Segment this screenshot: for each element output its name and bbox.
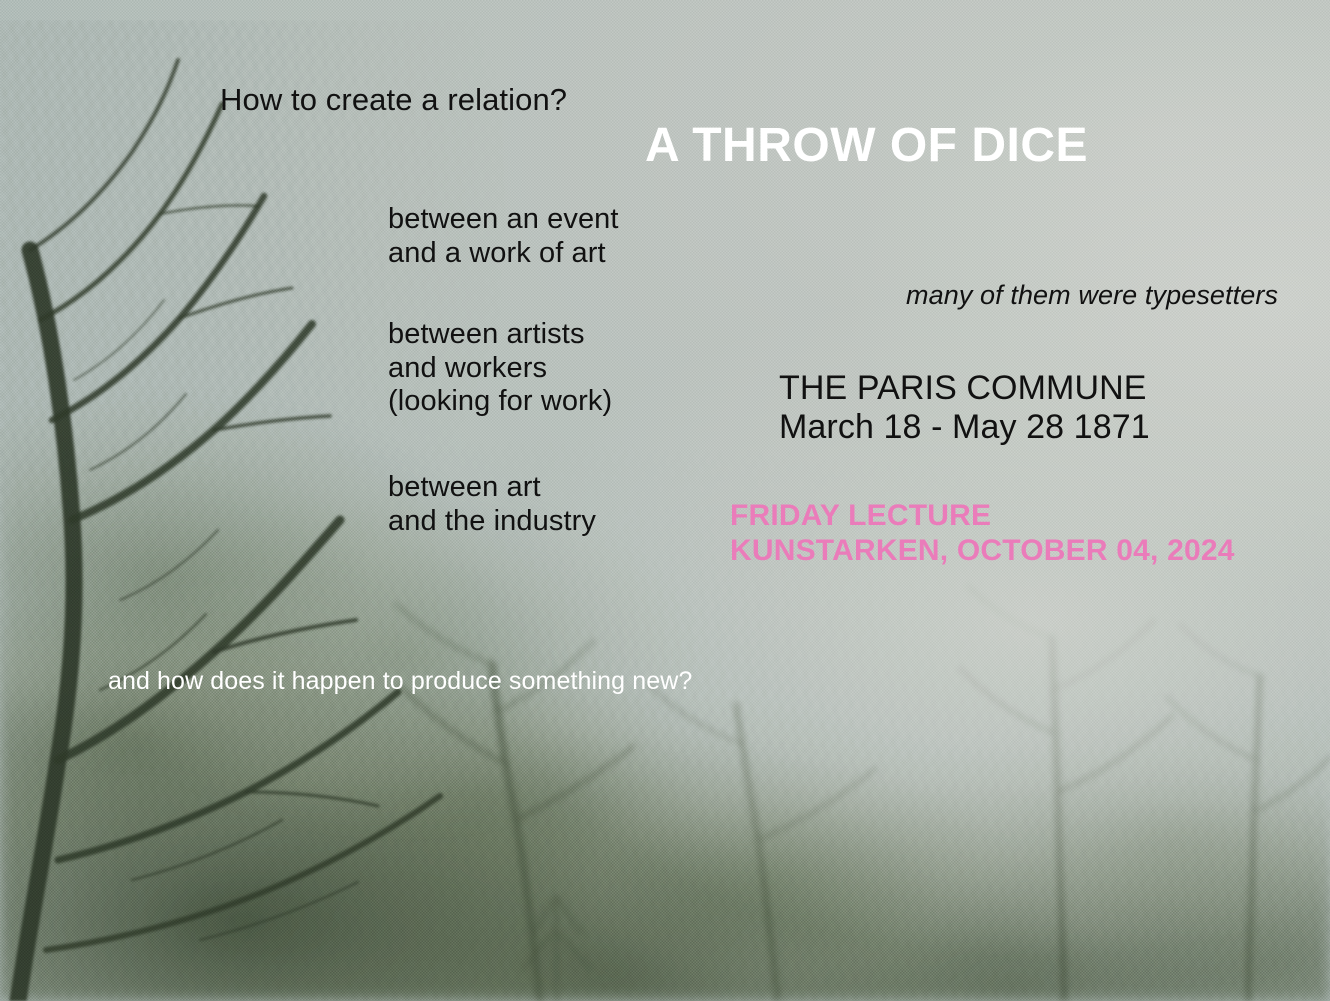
relation-item-artists: between artists and workers (looking for…	[388, 318, 612, 419]
closing-question: and how does it happen to produce someth…	[108, 667, 692, 696]
paris-commune-block: THE PARIS COMMUNE March 18 - May 28 1871	[779, 369, 1150, 448]
relation-item-industry: between art and the industry	[388, 471, 596, 538]
poster-headline: A THROW OF DICE	[645, 118, 1088, 174]
opening-question: How to create a relation?	[220, 82, 567, 118]
poster-canvas: How to create a relation? A THROW OF DIC…	[0, 0, 1330, 1001]
lecture-details: FRIDAY LECTURE KUNSTARKEN, OCTOBER 04, 2…	[730, 499, 1235, 569]
relation-item-event: between an event and a work of art	[388, 203, 619, 270]
typesetters-aside: many of them were typesetters	[906, 280, 1278, 311]
